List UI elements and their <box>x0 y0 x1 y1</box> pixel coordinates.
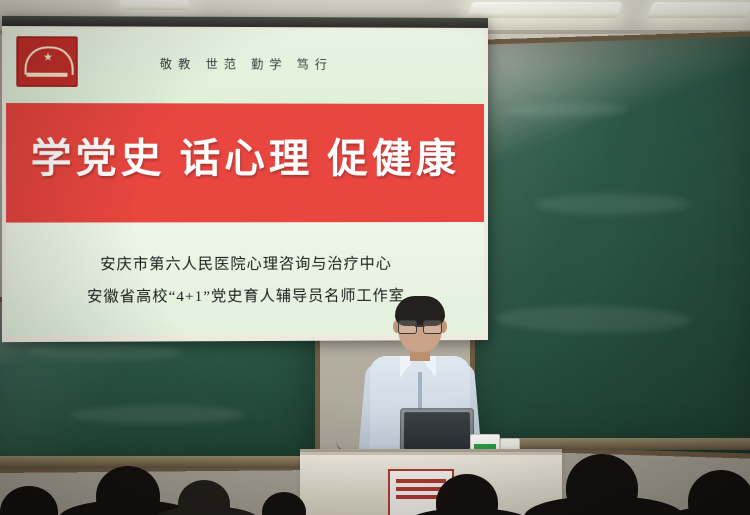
laptop-screen <box>404 412 470 449</box>
slide-motto: 敬教 世范 勤学 笃行 <box>6 54 484 73</box>
chalk-smudge <box>535 193 691 214</box>
projection-screen: ★ 敬教 世范 勤学 笃行 学党史 话心理 促健康 安庆市第六人民医院心理咨询与… <box>2 16 488 342</box>
glasses-lens-left <box>398 320 417 334</box>
crest-bar <box>27 73 68 77</box>
chalk-rail-left <box>0 456 312 468</box>
chalkboard-right <box>470 31 750 459</box>
laptop <box>400 408 474 454</box>
chalk-smudge <box>505 102 628 119</box>
glasses-icon <box>398 320 442 332</box>
chalk-smudge <box>27 344 184 361</box>
screen-top-bar <box>2 16 488 28</box>
ceiling-light-icon <box>119 0 191 10</box>
ceiling-light-icon <box>468 2 623 18</box>
presentation-slide: ★ 敬教 世范 勤学 笃行 学党史 话心理 促健康 安庆市第六人民医院心理咨询与… <box>6 28 484 336</box>
podium-crest-icon <box>388 469 454 515</box>
lecture-hall-photo: ★ 敬教 世范 勤学 笃行 学党史 话心理 促健康 安庆市第六人民医院心理咨询与… <box>0 0 750 515</box>
chalk-smudge <box>69 405 244 424</box>
podium <box>300 452 562 515</box>
glasses-lens-right <box>423 320 442 334</box>
slide-title: 学党史 话心理 促健康 <box>6 125 484 184</box>
chalk-smudge <box>495 305 691 334</box>
podium-crest-lines <box>396 479 446 483</box>
board-sheen <box>475 36 750 454</box>
slide-org-line-1: 安庆市第六人民医院心理咨询与治疗中心 <box>6 252 484 274</box>
ceiling-light-icon <box>647 2 750 18</box>
